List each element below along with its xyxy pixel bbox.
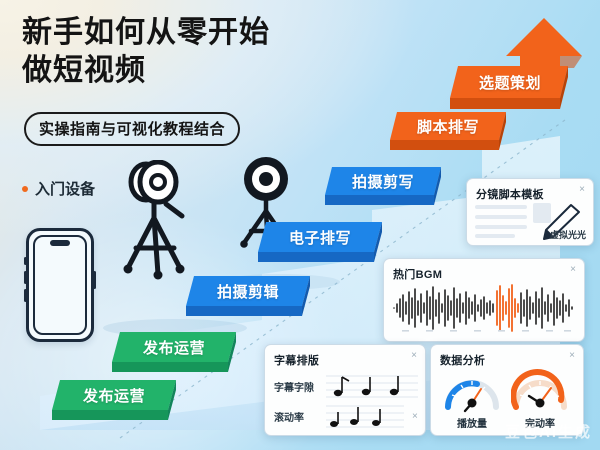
phone-button-left <box>24 257 27 265</box>
step-label-text: 选题策划 <box>452 64 568 100</box>
phone-button-left <box>24 271 27 284</box>
equipment-label: 入门设备 <box>22 178 95 199</box>
music-notes-row-2 <box>326 403 404 429</box>
infographic-canvas: 新手如何从零开始 做短视频 实操指南与可视化教程结合 入门设备 <box>0 0 600 450</box>
row-label: 滚动率 <box>274 409 320 424</box>
card-title: 分镜脚本模板 <box>476 186 544 202</box>
phone-button-right <box>93 271 96 289</box>
row-close-icon[interactable]: × <box>412 411 418 422</box>
step-label-4[interactable]: 电子排写 <box>258 218 382 256</box>
close-icon[interactable]: × <box>579 185 585 195</box>
card-storyboard-template[interactable]: 分镜脚本模板 × 虚拟光光 <box>466 178 594 246</box>
step-label-2[interactable]: 发布运营 <box>112 328 236 366</box>
card-subtitle-layout[interactable]: 字幕排版 × 字幕字隙 滚动率 <box>264 344 426 436</box>
page-title: 新手如何从零开始 做短视频 <box>22 14 382 91</box>
music-notes-row-1 <box>326 373 418 399</box>
equipment-label-text: 入门设备 <box>35 178 95 199</box>
card-title: 数据分析 <box>440 352 485 368</box>
step-label-text: 拍摄剪辑 <box>186 272 310 310</box>
subtitle-pill: 实操指南与可视化教程结合 <box>24 112 240 146</box>
subtitle-row-1[interactable]: 字幕字隙 <box>274 373 418 399</box>
watermark: 豆包AI生成 <box>505 421 592 442</box>
subtitle-row-2[interactable]: 滚动率 × <box>274 403 418 429</box>
close-icon[interactable]: × <box>570 265 576 275</box>
card-title: 热门BGM <box>393 266 442 282</box>
close-icon[interactable]: × <box>569 351 575 361</box>
storyboard-caption: 虚拟光光 <box>550 228 586 241</box>
row-label: 字幕字隙 <box>274 379 320 394</box>
phone-button-left <box>24 289 27 302</box>
title-line-2: 做短视频 <box>22 52 382 90</box>
ring-light-icon <box>108 160 204 284</box>
waveform-highlight <box>497 285 518 331</box>
title-line-1: 新手如何从零开始 <box>22 16 270 49</box>
smartphone-icon <box>26 228 94 342</box>
step-label-5[interactable]: 拍摄剪写 <box>325 163 441 199</box>
step-label-text: 电子排写 <box>258 218 382 256</box>
phone-notch <box>50 240 70 246</box>
gauge-plays <box>443 369 501 413</box>
step-label-text: 拍摄剪写 <box>325 163 441 199</box>
waveform-visualization <box>392 283 576 333</box>
step-label-text: 发布运营 <box>112 328 236 366</box>
step-label-7[interactable]: 选题策划 <box>452 64 568 100</box>
gauge-completion <box>511 369 569 413</box>
step-label-3[interactable]: 拍摄剪辑 <box>186 272 310 310</box>
close-icon[interactable]: × <box>411 351 417 361</box>
bullet-dot-icon <box>22 186 28 192</box>
card-title: 字幕排版 <box>274 352 319 368</box>
card-hot-bgm[interactable]: 热门BGM × <box>383 258 585 342</box>
gauge-label-plays: 播放量 <box>439 415 505 430</box>
